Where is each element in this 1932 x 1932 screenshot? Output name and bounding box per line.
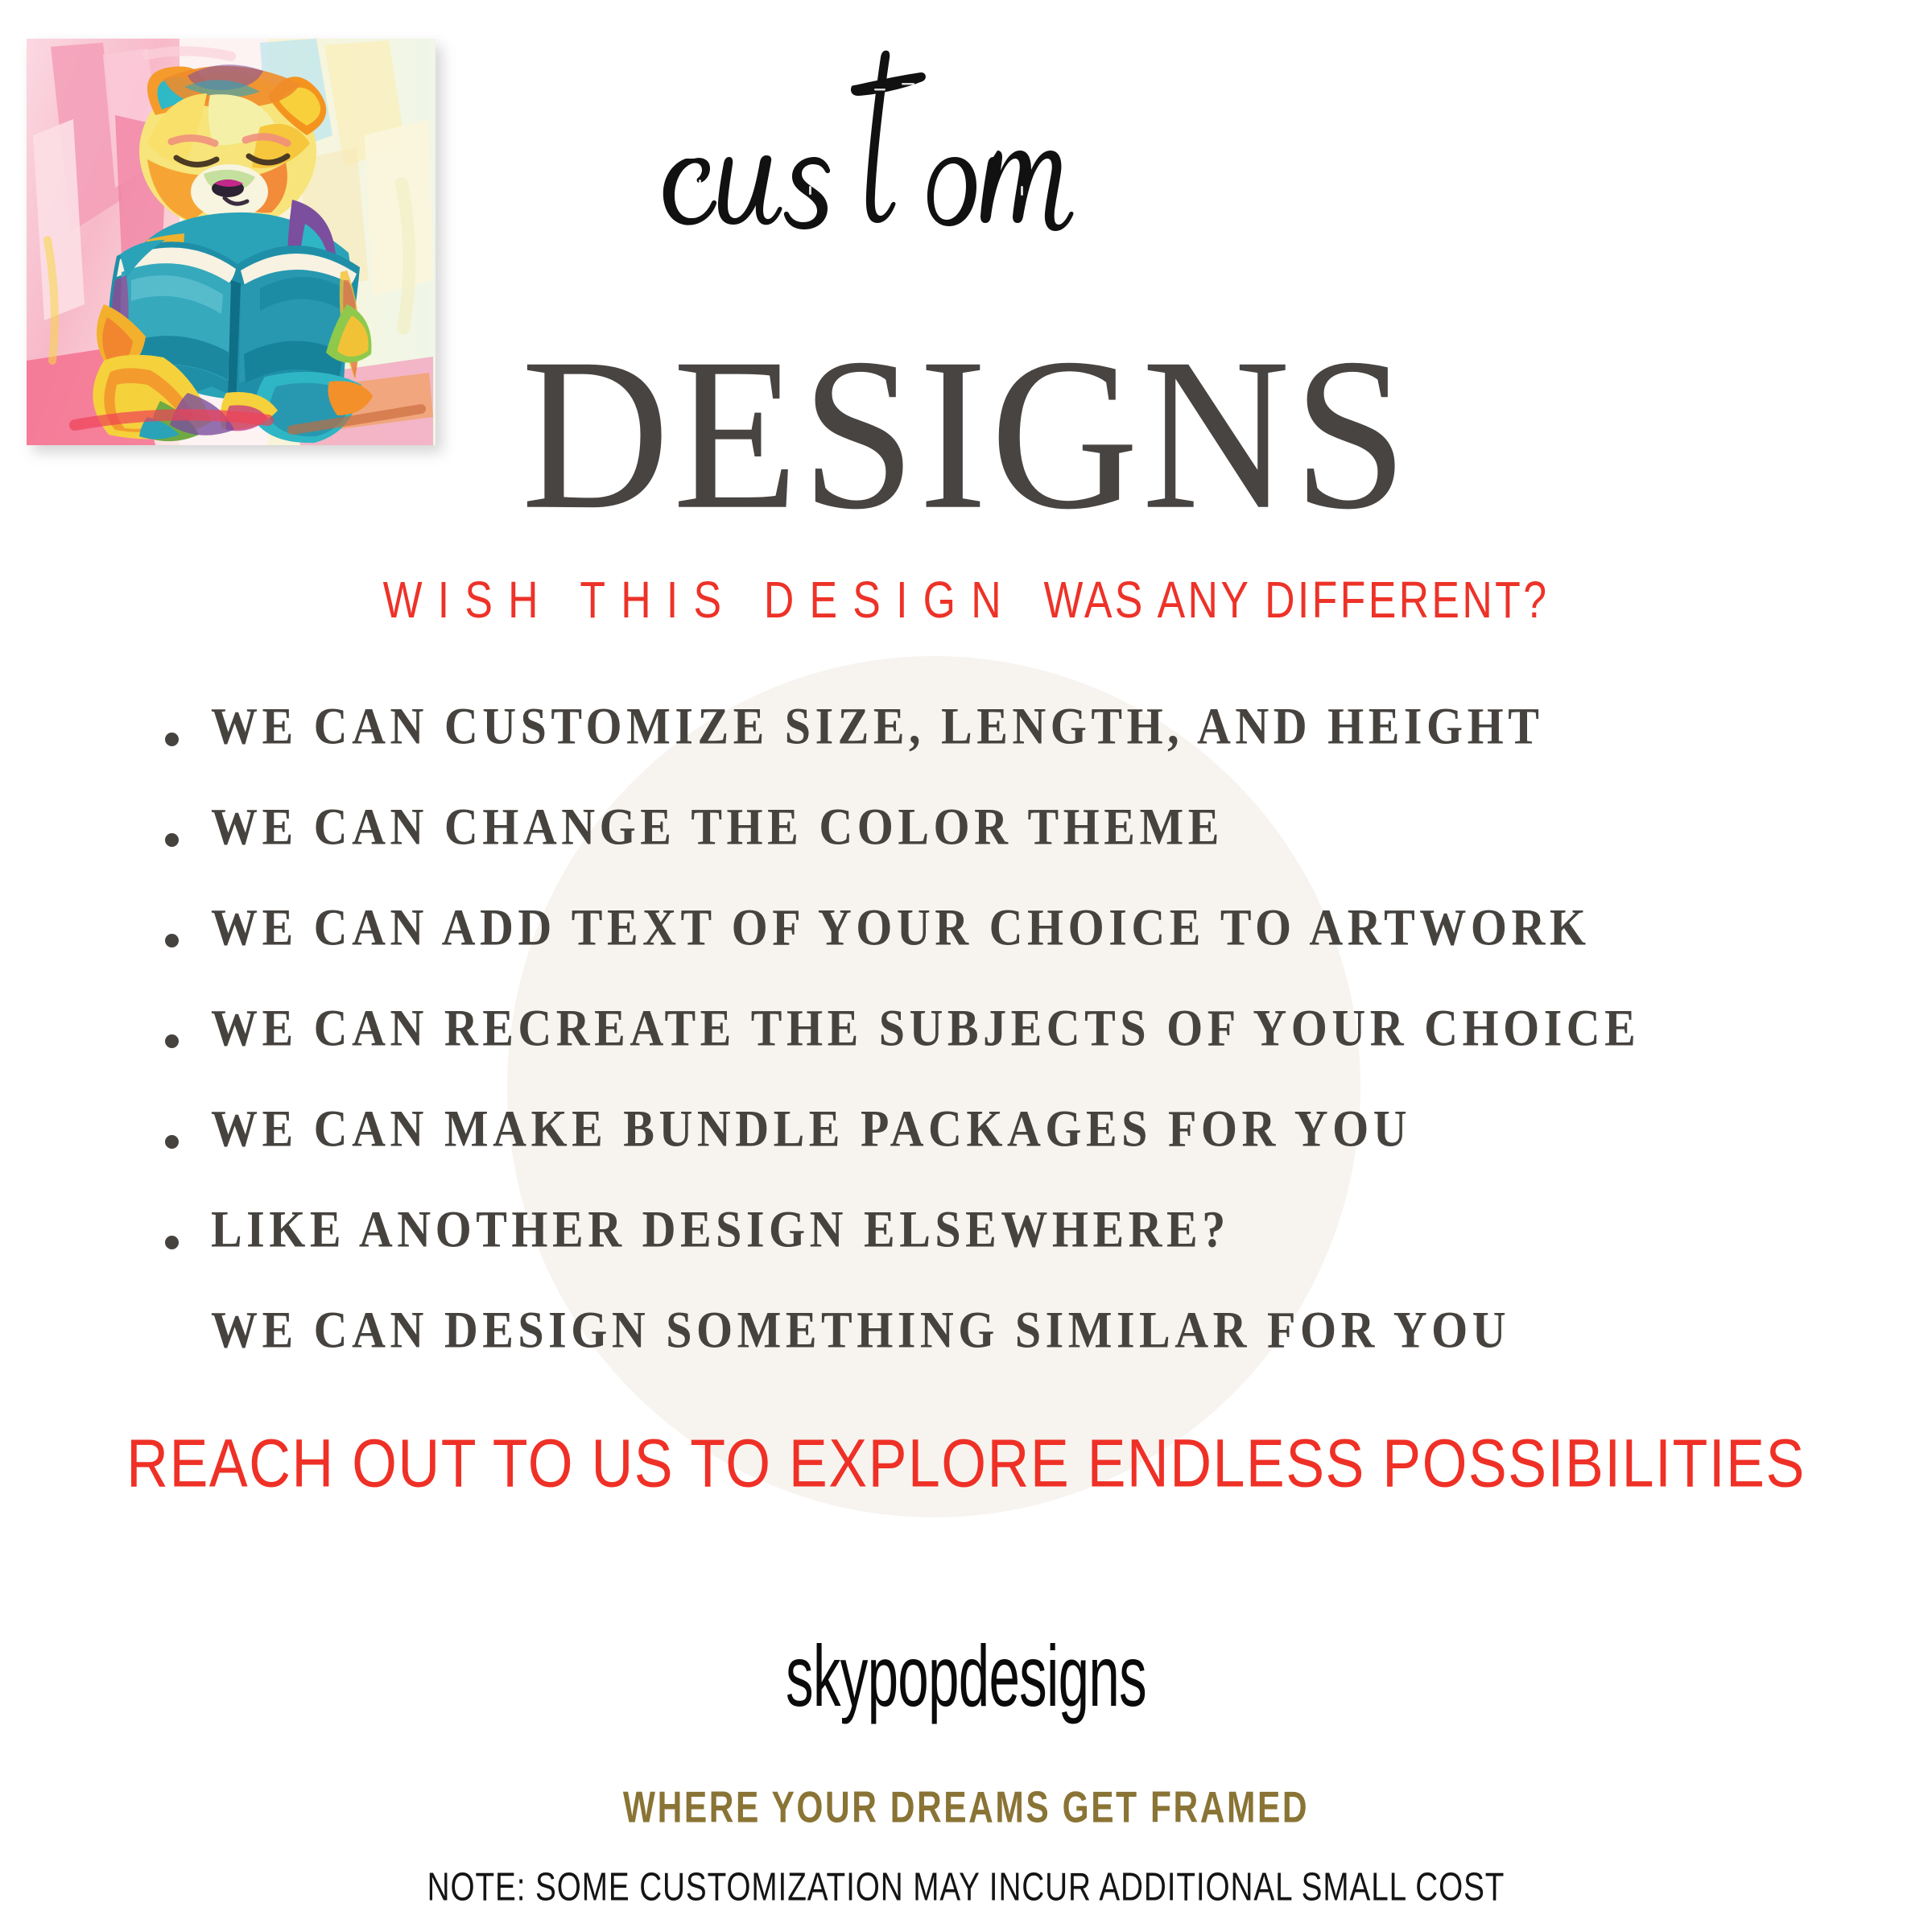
list-item-label: WE CAN RECREATE THE SUBJECTS OF YOUR CHO… [211, 997, 1640, 1058]
list-item-label: LIKE ANOTHER DESIGN ELSEWHERE? [211, 1199, 1230, 1259]
list-item: WE CAN MAKE BUNDLE PACKAGES FOR YOU [0, 1101, 1932, 1202]
question-subtitle-tight: WAS ANY DIFFERENT? [1043, 572, 1549, 630]
list-item: WE CAN RECREATE THE SUBJECTS OF YOUR CHO… [0, 1001, 1932, 1101]
brand-name: skypopdesigns [270, 1627, 1662, 1726]
benefits-list: WE CAN CUSTOMIZE SIZE, LENGTH, AND HEIGH… [0, 699, 1932, 1403]
bullet-dot-icon [165, 934, 179, 947]
question-subtitle-spaced: WISH THIS DESIGN [383, 572, 1044, 630]
footer-note: NOTE: SOME CUSTOMIZATION MAY INCUR ADDIT… [116, 1865, 1816, 1910]
poster-canvas: custom DESIGNS WISH THIS DESIGN WAS ANY … [0, 0, 1932, 1932]
script-headline-custom: custom [0, 44, 1932, 254]
list-item-label: WE CAN DESIGN SOMETHING SIMILAR FOR YOU [211, 1299, 1510, 1360]
list-item: WE CAN ADD TEXT OF YOUR CHOICE TO ARTWOR… [0, 900, 1932, 1001]
call-to-action-text: REACH OUT TO US TO EXPLORE ENDLESS POSSI… [29, 1424, 1903, 1502]
list-item: WE CAN CHANGE THE COLOR THEME [0, 799, 1932, 900]
custom-script-lettering [636, 44, 1296, 250]
main-headline-designs: DESIGNS [0, 326, 1932, 543]
question-subtitle: WISH THIS DESIGN WAS ANY DIFFERENT? [39, 571, 1893, 630]
brand-tagline: WHERE YOUR DREAMS GET FRAMED [145, 1781, 1787, 1833]
bullet-dot-icon [165, 833, 179, 847]
list-item-label: WE CAN ADD TEXT OF YOUR CHOICE TO ARTWOR… [211, 897, 1590, 957]
bullet-dot-icon [165, 1034, 179, 1048]
list-item: LIKE ANOTHER DESIGN ELSEWHERE? [0, 1202, 1932, 1302]
list-item: WE CAN CUSTOMIZE SIZE, LENGTH, AND HEIGH… [0, 699, 1932, 799]
list-item-continuation: WE CAN DESIGN SOMETHING SIMILAR FOR YOU [0, 1302, 1932, 1403]
list-item-label: WE CAN MAKE BUNDLE PACKAGES FOR YOU [211, 1098, 1411, 1158]
list-item-label: WE CAN CHANGE THE COLOR THEME [211, 796, 1224, 857]
bullet-dot-icon [165, 733, 179, 746]
list-item-label: WE CAN CUSTOMIZE SIZE, LENGTH, AND HEIGH… [211, 696, 1543, 756]
bullet-dot-icon [165, 1135, 179, 1149]
bullet-dot-icon [165, 1236, 179, 1249]
